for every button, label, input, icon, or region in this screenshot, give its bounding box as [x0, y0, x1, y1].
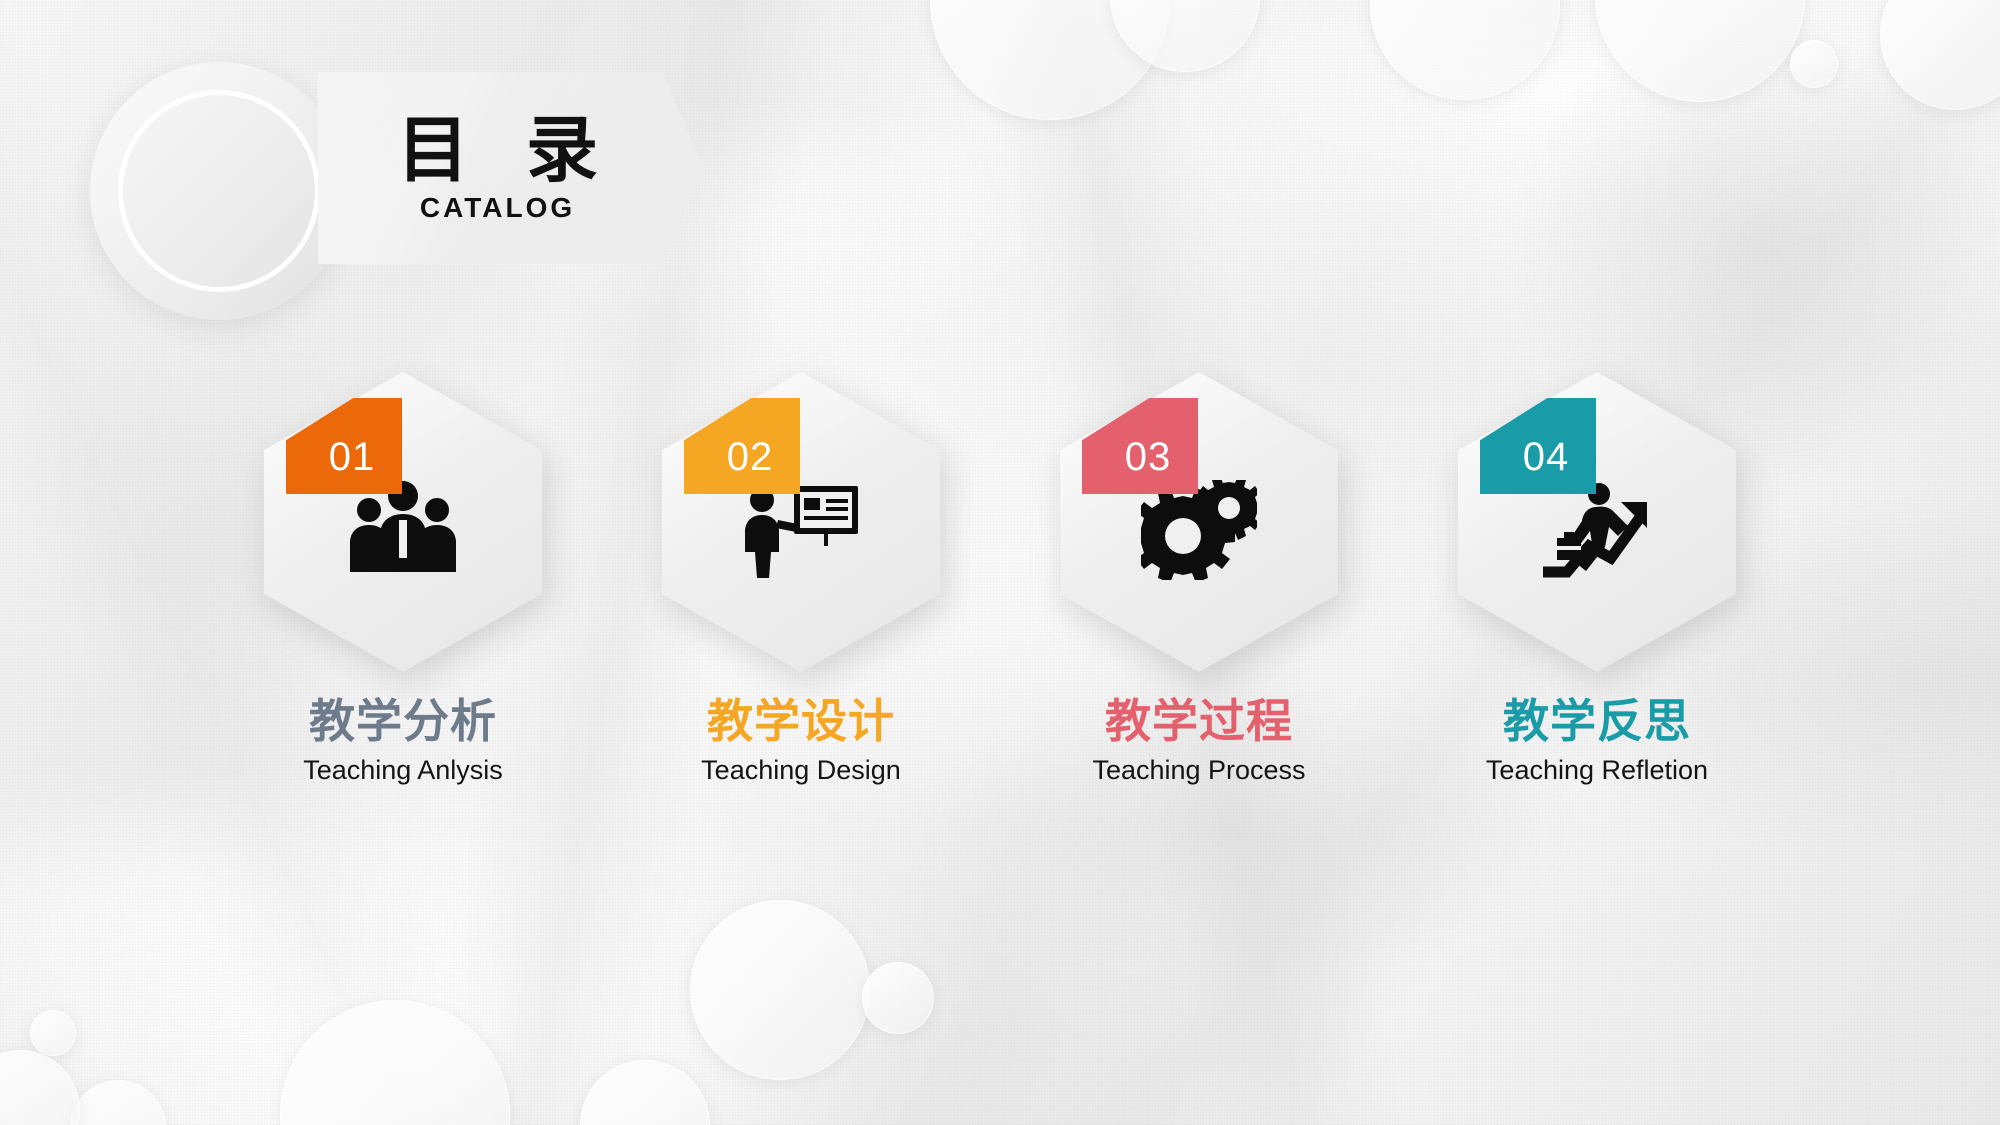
catalog-item-03[interactable]: 03 教学过程 T — [1060, 372, 1338, 787]
hexagon-tile-01[interactable]: 01 — [264, 372, 542, 672]
caption-title-cn: 教学设计 — [662, 696, 940, 748]
caption-04: 教学反思 Teaching Refletion — [1458, 696, 1736, 787]
caption-02: 教学设计 Teaching Design — [662, 696, 940, 787]
caption-title-cn: 教学分析 — [264, 696, 542, 748]
decorative-bubble — [862, 962, 934, 1034]
hexagon-tile-02[interactable]: 02 — [662, 372, 940, 672]
decorative-bubble — [30, 1010, 76, 1056]
number-badge-03: 03 — [1082, 398, 1198, 494]
caption-title-en: Teaching Process — [1060, 754, 1338, 788]
group-people-icon — [264, 480, 542, 576]
catalog-slide: 目 录 CATALOG 01 — [0, 0, 2000, 1125]
number-badge-04: 04 — [1480, 398, 1596, 494]
caption-03: 教学过程 Teaching Process — [1060, 696, 1338, 787]
caption-title-en: Teaching Design — [662, 754, 940, 788]
catalog-banner: 目 录 CATALOG — [318, 72, 703, 264]
presenter-whiteboard-icon — [662, 480, 940, 580]
caption-01: 教学分析 Teaching Anlysis — [264, 696, 542, 787]
catalog-item-01[interactable]: 01 教学分析 Teaching Anlysis — [264, 372, 542, 787]
catalog-item-02[interactable]: 02 — [662, 372, 940, 787]
decorative-bubble — [690, 900, 870, 1080]
badge-number: 04 — [1507, 415, 1570, 477]
caption-title-cn: 教学过程 — [1060, 696, 1338, 748]
caption-title-en: Teaching Anlysis — [264, 754, 542, 788]
badge-number: 01 — [313, 415, 376, 477]
gears-icon — [1060, 480, 1338, 580]
caption-title-en: Teaching Refletion — [1458, 754, 1736, 788]
number-badge-02: 02 — [684, 398, 800, 494]
decorative-ring-inner — [118, 90, 320, 292]
caption-title-cn: 教学反思 — [1458, 696, 1736, 748]
catalog-banner-group: 目 录 CATALOG — [318, 72, 703, 264]
hexagon-tile-04[interactable]: 04 — [1458, 372, 1736, 672]
businessman-growth-arrow-icon — [1458, 480, 1736, 582]
page-title-cn: 目 录 — [381, 114, 614, 186]
number-badge-01: 01 — [286, 398, 402, 494]
catalog-item-04[interactable]: 04 教学反思 Teaching Refletion — [1458, 372, 1736, 787]
badge-number: 02 — [711, 415, 774, 477]
decorative-bubble — [1790, 40, 1838, 88]
badge-number: 03 — [1109, 415, 1172, 477]
catalog-items-row: 01 教学分析 Teaching Anlysis — [0, 372, 2000, 787]
page-title-en: CATALOG — [420, 194, 575, 222]
hexagon-tile-03[interactable]: 03 — [1060, 372, 1338, 672]
